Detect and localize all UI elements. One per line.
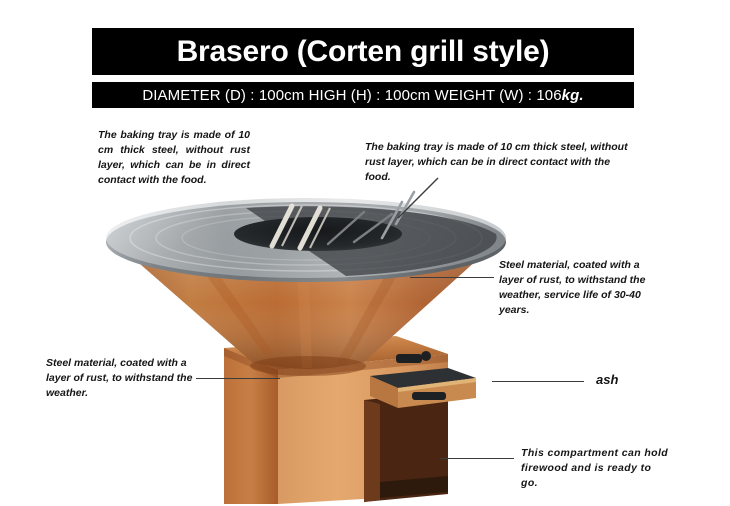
infographic-page: Brasero (Corten grill style) DIAMETER (D…: [0, 0, 730, 506]
firewood-compartment: [364, 392, 448, 502]
annotation-firewood-compartment: This compartment can hold firewood and i…: [521, 446, 671, 491]
leader-line-steel-left: [196, 378, 280, 379]
product-title-bar: Brasero (Corten grill style): [92, 28, 634, 75]
ash-drawer-handle[interactable]: [412, 392, 446, 400]
leader-line-baking-tray-right: [398, 178, 438, 220]
firewood-inner-wall: [364, 400, 380, 502]
bowl-bottom-shadow: [250, 356, 366, 376]
spec-weight-unit: kg.: [562, 87, 584, 104]
page-title: Brasero (Corten grill style): [177, 35, 550, 69]
latch-knob: [421, 351, 431, 361]
annotation-ash: ash: [596, 372, 666, 387]
annotation-baking-tray-left: The baking tray is made of 10 cm thick s…: [98, 128, 250, 188]
leader-line-steel-right: [410, 277, 494, 278]
latch-bar: [396, 354, 422, 363]
leader-line-ash: [492, 381, 584, 382]
product-spec-bar: DIAMETER (D) : 100cm HIGH (H) : 100cm WE…: [92, 82, 634, 108]
annotation-steel-material-left: Steel material, coated with a layer of r…: [46, 356, 196, 401]
spec-line: DIAMETER (D) : 100cm HIGH (H) : 100cm WE…: [142, 87, 583, 104]
spec-line-text: DIAMETER (D) : 100cm HIGH (H) : 100cm WE…: [142, 87, 561, 104]
leader-line-firewood: [440, 458, 514, 459]
annotation-steel-material-right: Steel material, coated with a layer of r…: [499, 258, 651, 318]
